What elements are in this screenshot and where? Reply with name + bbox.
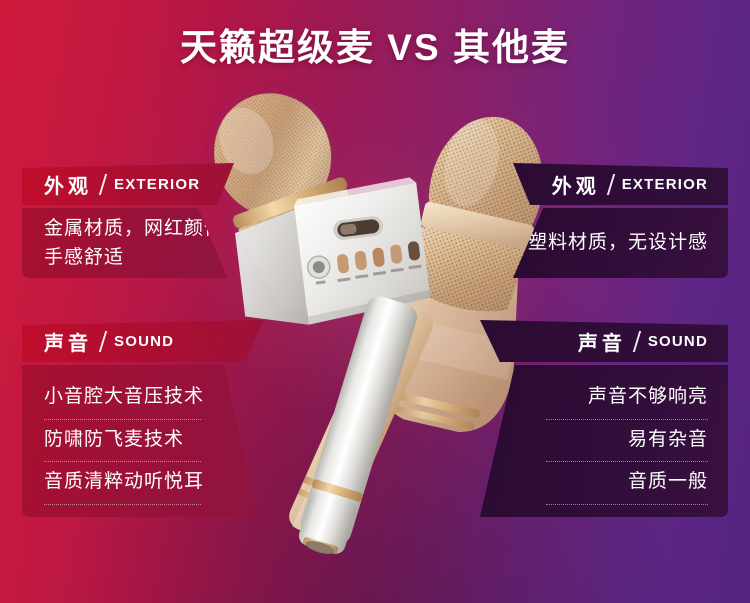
item-separator [44,504,201,505]
header-label-cn: 声音 [44,327,92,356]
feature-line: 声音不够响亮 [588,382,708,411]
panel-sound-left: 声音 SOUND 小音腔大音压技术 防啸防飞麦技术 音质清粹动听悦耳 [22,320,270,517]
panel-body-exterior-right: 塑料材质，无设计感 [513,208,728,278]
feature-line: 金属材质，网红颜值 [44,214,224,243]
header-label-en: SOUND [648,333,708,350]
panel-sound-right: 声音 SOUND 声音不够响亮 易有杂音 音质一般 [480,320,728,517]
feature-line: 手感舒适 [44,243,124,272]
feature-line: 音质一般 [628,467,708,496]
panel-body-sound-left: 小音腔大音压技术 防啸防飞麦技术 音质清粹动听悦耳 [22,365,257,517]
item-separator [546,504,708,505]
slash-divider-icon [99,174,107,195]
panel-header-exterior-left: 外观 EXTERIOR [22,163,234,205]
feature-line: 易有杂音 [628,425,708,454]
slash-divider-icon [99,331,107,352]
header-label-en: EXTERIOR [622,176,708,193]
header-label-cn: 外观 [552,170,600,199]
header-label-en: EXTERIOR [114,176,200,193]
panel-header-exterior-right: 外观 EXTERIOR [513,163,728,205]
slash-divider-icon [607,174,615,195]
feature-line: 防啸防飞麦技术 [44,425,184,454]
panel-header-sound-left: 声音 SOUND [22,320,264,362]
panel-exterior-right: 外观 EXTERIOR 塑料材质，无设计感 [513,163,728,278]
list-item: 易有杂音 [520,420,708,461]
panel-body-sound-right: 声音不够响亮 易有杂音 音质一般 [480,365,728,517]
infographic-canvas: 天籁超级麦 VS 其他麦 外观 EXTERIOR 金属材质，网红颜值 手感舒适 … [0,0,750,603]
feature-line: 塑料材质，无设计感 [528,228,708,257]
header-label-cn: 声音 [578,327,626,356]
header-label-cn: 外观 [44,170,92,199]
list-item: 音质一般 [520,462,708,503]
panel-body-exterior-left: 金属材质，网红颜值 手感舒适 [22,208,227,278]
list-item: 防啸防飞麦技术 [44,420,227,461]
feature-line: 音质清粹动听悦耳 [44,467,204,496]
list-item: 小音腔大音压技术 [44,377,227,418]
panel-header-sound-right: 声音 SOUND [480,320,728,362]
page-title: 天籁超级麦 VS 其他麦 [0,17,750,71]
list-item: 音质清粹动听悦耳 [44,462,227,503]
feature-line: 小音腔大音压技术 [44,382,204,411]
list-item: 声音不够响亮 [520,377,708,418]
slash-divider-icon [633,331,641,352]
panel-exterior-left: 外观 EXTERIOR 金属材质，网红颜值 手感舒适 [22,163,237,278]
header-label-en: SOUND [114,333,174,350]
